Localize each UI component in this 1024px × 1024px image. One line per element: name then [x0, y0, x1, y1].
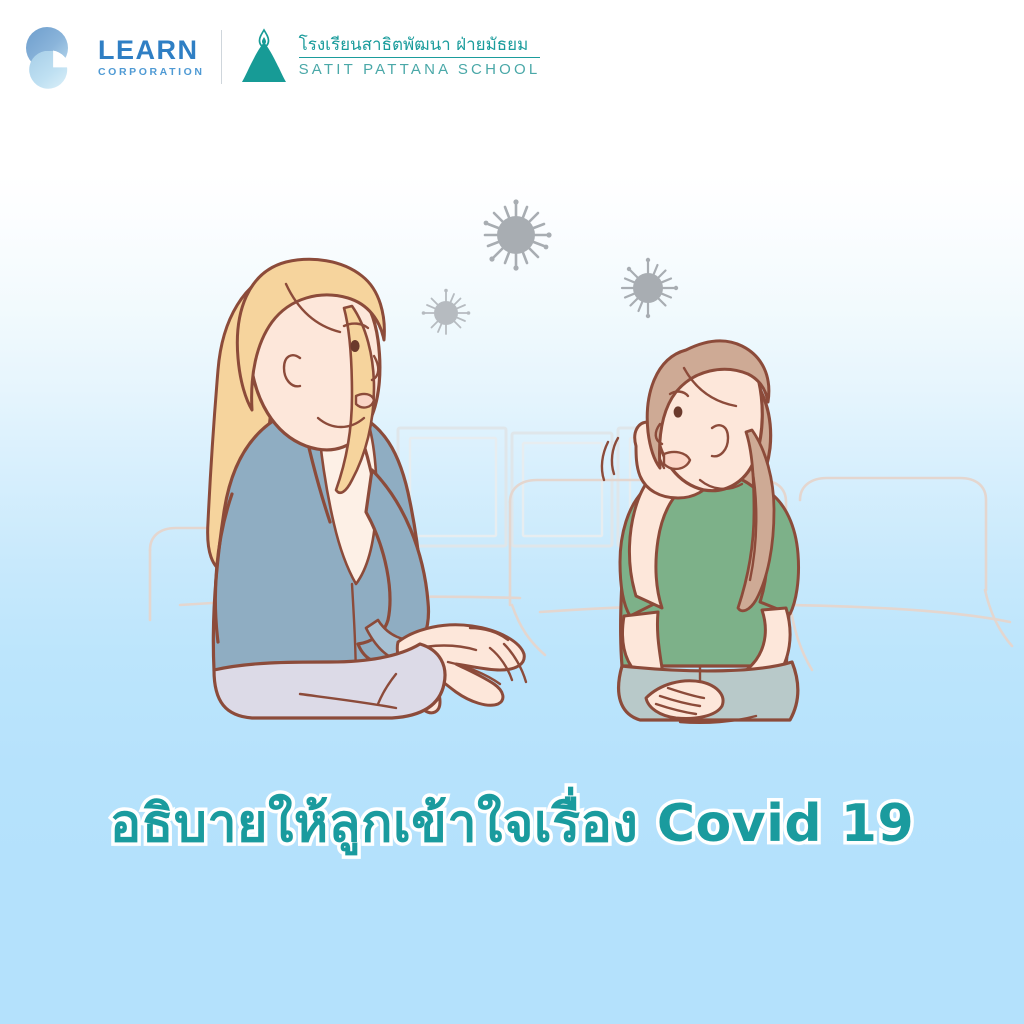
child-figure	[602, 341, 799, 723]
poster-canvas: LEARN CORPORATION โรงเรียนสาธิตพัฒนา ฝ่า…	[0, 0, 1024, 1024]
satit-thai-name: โรงเรียนสาธิตพัฒนา ฝ่ายมัธยม	[299, 37, 541, 57]
satit-wordmark: โรงเรียนสาธิตพัฒนา ฝ่ายมัธยม SATIT PATTA…	[299, 37, 541, 78]
mother-figure	[208, 259, 526, 718]
virus-icon-medium	[622, 258, 678, 318]
learn-wordmark: LEARN CORPORATION	[98, 37, 205, 78]
satit-english-name: SATIT PATTANA SCHOOL	[299, 62, 541, 77]
logo-bar: LEARN CORPORATION โรงเรียนสาธิตพัฒนา ฝ่า…	[22, 22, 540, 92]
virus-icon-large	[484, 199, 552, 270]
satit-pattana-school-logo: โรงเรียนสาธิตพัฒนา ฝ่ายมัธยม SATIT PATTA…	[238, 28, 541, 86]
logo-divider	[221, 30, 222, 84]
learn-circles-icon	[22, 24, 88, 90]
page-title: อธิบายให้ลูกเข้าใจเรื่อง Covid 19	[110, 795, 914, 855]
title-block: อธิบายให้ลูกเข้าใจเรื่อง Covid 19	[0, 780, 1024, 870]
mountain-flame-icon	[238, 28, 290, 86]
learn-corporation-logo: LEARN CORPORATION	[22, 24, 205, 90]
learn-subword: CORPORATION	[98, 67, 205, 78]
learn-word: LEARN	[98, 37, 205, 64]
illustration-scene: .ol{fill:none;stroke:#8c4b3a;stroke-widt…	[0, 150, 1024, 770]
virus-icon-small	[422, 289, 471, 334]
satit-rule	[299, 57, 541, 59]
